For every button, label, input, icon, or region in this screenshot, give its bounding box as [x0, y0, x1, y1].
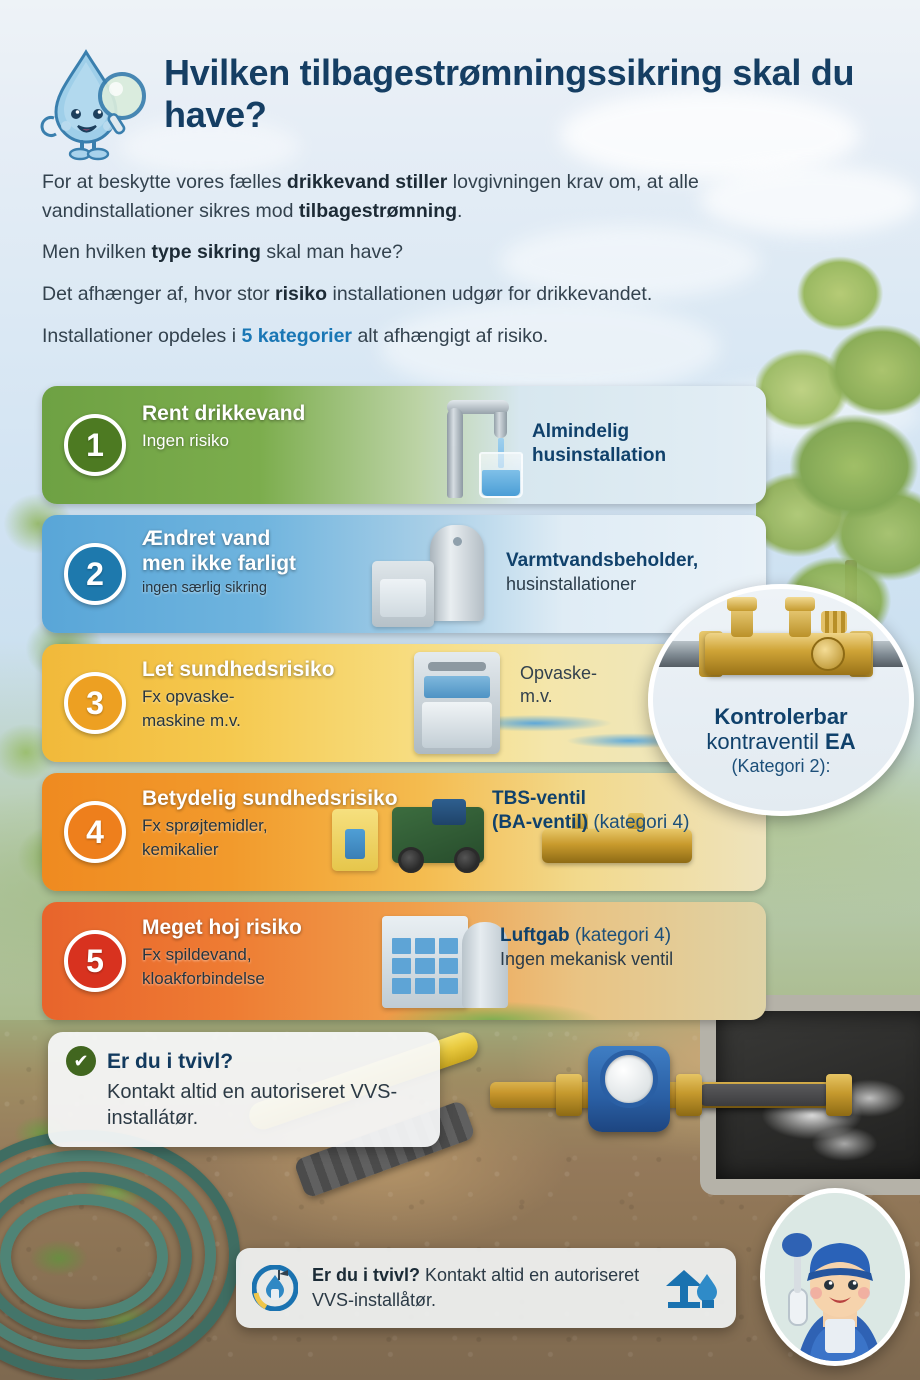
doubt-title: Er du i tvivl? [107, 1046, 233, 1075]
intro-paragraph-2: Men hvilken type sikring skal man have? [42, 238, 812, 267]
category-solution-3: Opvaske- [520, 662, 597, 685]
brass-check-valve-icon [653, 589, 909, 701]
card-left-text-3: Let sundhedsrisiko Fx opvaske- maskine m… [142, 658, 442, 731]
page-title: Hvilken tilbagestrømningssikring skal du… [164, 44, 880, 136]
water-meter-dial [600, 1050, 658, 1108]
intro-text: For at beskytte vores fælles drikkevand … [42, 168, 812, 350]
brass-nut [826, 1074, 852, 1116]
category-solution-4b: (BA-ventil) (kategori 4) [492, 811, 689, 835]
category-subtitle-4a: Fx sprøjtemidler, [142, 815, 472, 836]
category-card-4[interactable]: 4 Betydelig sundhedsrisiko Fx sprøjtemid… [42, 773, 766, 891]
infographic-poster: Hvilken tilbagestrømningssikring skal du… [0, 0, 920, 1380]
category-subtitle-5b: kloakforbindelse [142, 968, 442, 989]
card-right-text-5: Luftgab (kategori 4) Ingen mekanisk vent… [500, 924, 673, 971]
doubt-box: ✔ Er du i tvivl? Kontakt altid en autori… [48, 1032, 440, 1147]
category-card-5[interactable]: 5 Meget hoj risiko Fx spildevand, kloakf… [42, 902, 766, 1020]
category-badge-2: 2 [64, 543, 126, 605]
tank-port [453, 537, 462, 546]
category-solution-4a: TBS-ventil [492, 787, 689, 811]
test-port-cap [785, 597, 815, 611]
faucet-base [447, 446, 463, 498]
brass-nut [676, 1074, 702, 1116]
flow-direction-marker [811, 637, 845, 671]
valve-callout: Kontrolerbar kontraventil EA (Kategori 2… [648, 584, 914, 816]
callout-caption: Kontrolerbar kontraventil EA (Kategori 2… [653, 701, 909, 778]
category-title-5: Meget hoj risiko [142, 916, 442, 941]
category-badge-3: 3 [64, 672, 126, 734]
category-title-4: Betydelig sundhedsrisiko [142, 787, 472, 812]
garden-hose-coil [0, 1130, 260, 1380]
card-left-text-4: Betydelig sundhedsrisiko Fx sprøjtemidle… [142, 787, 472, 860]
house-waterdrop-icon [664, 1266, 720, 1310]
card-left-text-1: Rent drikkevand Ingen risiko [142, 402, 442, 451]
header: Hvilken tilbagestrømningssikring skal du… [40, 44, 880, 162]
valve-knob [821, 611, 847, 633]
category-solution-3-sub: m.v. [520, 685, 597, 708]
category-title-3: Let sundhedsrisiko [142, 658, 442, 683]
category-subtitle-4b: kemikalier [142, 839, 472, 860]
water-droplet-magnifier-icon [40, 44, 148, 162]
category-solution-2: Varmtvandsbeholder, [506, 549, 698, 573]
category-badge-5: 5 [64, 930, 126, 992]
dark-pipe-section [700, 1084, 830, 1106]
doubt-body: Kontakt altid en autoriseret VVS-install… [66, 1079, 422, 1131]
test-port-cap [727, 597, 757, 611]
category-note-2: ingen særlig sikring [142, 579, 442, 597]
card-right-text-4: TBS-ventil (BA-ventil) (kategori 4) [492, 787, 689, 836]
callout-line-1: Kontrolerbar [671, 705, 891, 730]
doubt-header: ✔ Er du i tvivl? [66, 1046, 422, 1076]
intro-paragraph-4: Installationer opdeles i 5 kategorier al… [42, 322, 812, 351]
category-solution-1a: Almindelig [532, 420, 666, 444]
category-subtitle-1: Ingen risiko [142, 430, 442, 451]
callout-line-2: kontraventil EA [671, 730, 891, 755]
category-badge-4: 4 [64, 801, 126, 863]
banner-text: Er du i tvivl? Kontakt altid en autorise… [312, 1263, 650, 1313]
category-subtitle-3a: Fx opvaske- [142, 686, 442, 707]
category-badge-1: 1 [64, 414, 126, 476]
category-title-2a: Ændret vand [142, 527, 442, 552]
category-subtitle-5a: Fx spildevand, [142, 944, 442, 965]
plumber-mascot-icon [760, 1188, 910, 1366]
category-card-1[interactable]: 1 Rent drikkevand Ingen risiko Almindeli… [42, 386, 766, 504]
category-solution-1b: husinstallation [532, 444, 666, 468]
intro-paragraph-3: Det afhænger af, hvor stor risiko instal… [42, 280, 812, 309]
callout-line-3: (Kategori 2): [671, 756, 891, 778]
category-subtitle-3b: maskine m.v. [142, 710, 442, 731]
bottom-banner: Er du i tvivl? Kontakt altid en autorise… [236, 1248, 736, 1328]
brass-nut [556, 1074, 582, 1116]
category-title-2b: men ikke farligt [142, 552, 442, 577]
category-solution-5-sub: Ingen mekanisk ventil [500, 948, 673, 971]
category-solution-5: Luftgab (kategori 4) [500, 924, 673, 948]
intro-paragraph-1: For at beskytte vores fælles drikkevand … [42, 168, 812, 225]
check-mark-icon: ✔ [66, 1046, 96, 1076]
category-title-1: Rent drikkevand [142, 402, 442, 427]
card-left-text-5: Meget hoj risiko Fx spildevand, kloakfor… [142, 916, 442, 989]
water-utility-logo-icon [252, 1265, 298, 1311]
card-left-text-2: Ændret vand men ikke farligt ingen særli… [142, 527, 442, 597]
valve-body [705, 633, 871, 675]
card-right-text-1: Almindelig husinstallation [532, 420, 666, 469]
faucet-spout [494, 412, 507, 438]
card-right-text-3: Opvaske- m.v. [520, 662, 597, 709]
glass-water-fill [482, 470, 520, 496]
